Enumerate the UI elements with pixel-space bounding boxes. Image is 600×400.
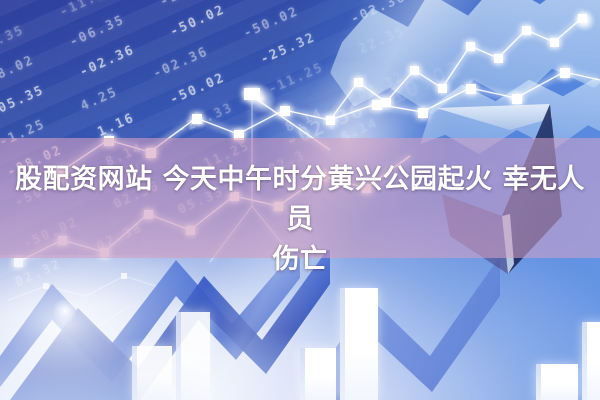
news-thumbnail-banner: -05.35-11.25+5.02-02.362.18 -08.02-06.35… [0, 0, 600, 400]
sparkle [52, 298, 78, 324]
headline-line-2: 伤亡 [8, 240, 592, 280]
page-title: 股配资网站 今天中午时分黄兴公园起火 幸无人员 伤亡 [0, 160, 600, 280]
sparkle [574, 10, 596, 32]
sparkle [246, 84, 276, 114]
headline-line-1: 股配资网站 今天中午时分黄兴公园起火 幸无人员 [8, 160, 592, 240]
